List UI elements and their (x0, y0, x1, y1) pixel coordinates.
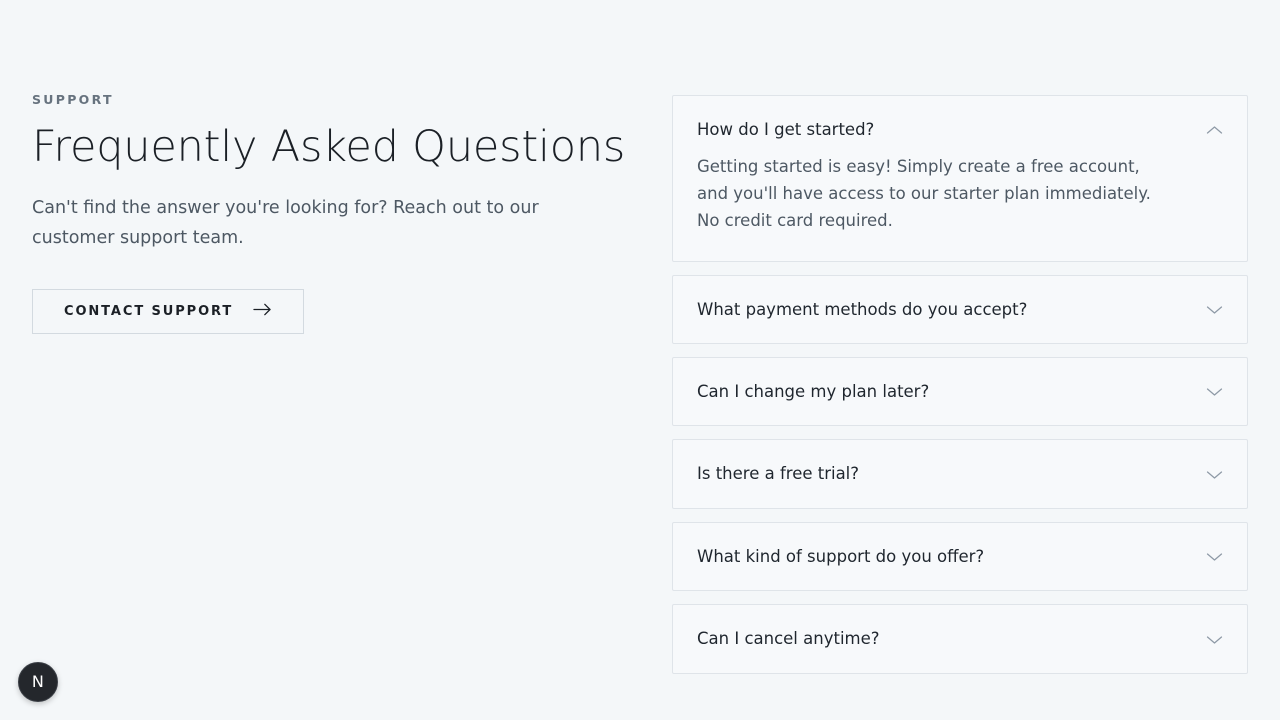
faq-item[interactable]: Can I cancel anytime? (672, 604, 1248, 673)
faq-answer: Getting started is easy! Simply create a… (673, 154, 1178, 260)
nextjs-logo-icon[interactable]: N (18, 662, 58, 702)
faq-item-header[interactable]: Is there a free trial? (673, 440, 1247, 507)
intro-column: SUPPORT Frequently Asked Questions Can't… (32, 92, 592, 334)
page-title: Frequently Asked Questions (32, 123, 592, 171)
eyebrow-label: SUPPORT (32, 92, 592, 107)
arrow-right-icon (253, 303, 272, 320)
faq-item-header[interactable]: What kind of support do you offer? (673, 523, 1247, 590)
contact-support-label: CONTACT SUPPORT (64, 304, 233, 319)
faq-question: Is there a free trial? (697, 463, 859, 484)
faq-question: Can I change my plan later? (697, 381, 929, 402)
faq-item-header[interactable]: What payment methods do you accept? (673, 276, 1247, 343)
faq-item[interactable]: What payment methods do you accept? (672, 275, 1248, 344)
faq-question: Can I cancel anytime? (697, 628, 880, 649)
faq-question: What kind of support do you offer? (697, 546, 984, 567)
chevron-down-icon[interactable] (1206, 465, 1223, 484)
chevron-down-icon[interactable] (1206, 300, 1223, 319)
faq-item-header[interactable]: Can I change my plan later? (673, 358, 1247, 425)
faq-accordion-list: How do I get started? Getting started is… (672, 95, 1248, 674)
chevron-up-icon[interactable] (1206, 120, 1223, 139)
chevron-down-icon[interactable] (1206, 630, 1223, 649)
faq-item[interactable]: Can I change my plan later? (672, 357, 1248, 426)
faq-page: SUPPORT Frequently Asked Questions Can't… (0, 0, 1280, 720)
faq-item-header[interactable]: Can I cancel anytime? (673, 605, 1247, 672)
dev-badge-letter: N (32, 674, 44, 690)
faq-question: What payment methods do you accept? (697, 299, 1027, 320)
faq-item[interactable]: Is there a free trial? (672, 439, 1248, 508)
faq-question: How do I get started? (697, 119, 874, 140)
chevron-down-icon[interactable] (1206, 382, 1223, 401)
faq-item[interactable]: How do I get started? Getting started is… (672, 95, 1248, 262)
faq-item-header[interactable]: How do I get started? (673, 96, 1247, 154)
faq-item[interactable]: What kind of support do you offer? (672, 522, 1248, 591)
chevron-down-icon[interactable] (1206, 547, 1223, 566)
intro-subtitle: Can't find the answer you're looking for… (32, 194, 552, 253)
contact-support-button[interactable]: CONTACT SUPPORT (32, 289, 304, 334)
